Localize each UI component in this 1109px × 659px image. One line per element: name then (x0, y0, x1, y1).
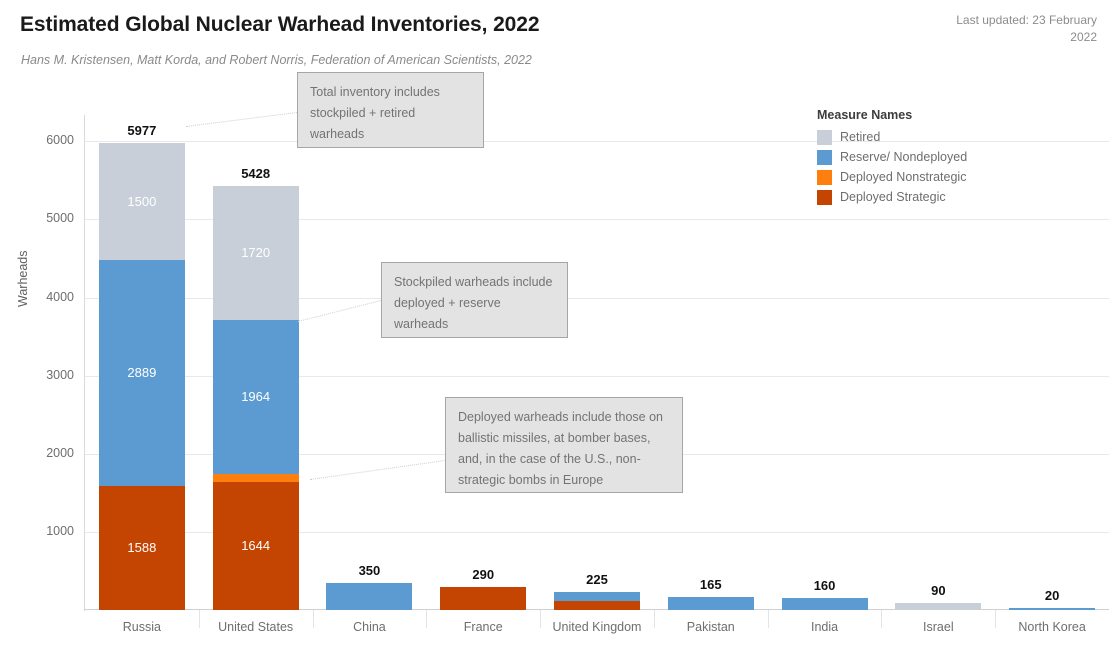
bar-column[interactable]: Israel90 (895, 603, 981, 610)
bar-segment[interactable] (895, 603, 981, 610)
category-separator (540, 610, 541, 628)
category-label: China (312, 620, 426, 634)
bar-segment[interactable] (440, 587, 526, 610)
bar-stack: 1644196417205428 (213, 186, 299, 610)
last-updated-text: Last updated: 23 February 2022 (927, 12, 1097, 46)
legend-title: Measure Names (817, 108, 1017, 122)
category-separator (313, 610, 314, 628)
bar-segment[interactable] (213, 474, 299, 482)
bar-column[interactable]: India160 (782, 598, 868, 611)
category-separator (426, 610, 427, 628)
bar-column[interactable]: China350 (326, 583, 412, 610)
category-separator (995, 610, 996, 628)
category-label: United States (199, 620, 313, 634)
total-value-label: 5977 (99, 123, 185, 138)
chart-title: Estimated Global Nuclear Warhead Invento… (20, 13, 539, 37)
category-label: Russia (85, 620, 199, 634)
legend-item[interactable]: Deployed Nonstrategic (817, 167, 1017, 187)
total-value-label: 90 (895, 583, 981, 598)
bar-segment[interactable] (554, 592, 640, 600)
total-value-label: 225 (554, 572, 640, 587)
bar-segment[interactable] (213, 186, 299, 320)
bar-stack: 290 (440, 587, 526, 610)
category-label: North Korea (995, 620, 1109, 634)
legend: Measure Names RetiredReserve/ Nondeploye… (817, 108, 1017, 207)
bar-column[interactable]: North Korea20 (1009, 608, 1095, 610)
legend-swatch-icon (817, 150, 832, 165)
bar-column[interactable]: France290 (440, 587, 526, 610)
bar-segment[interactable] (1009, 608, 1095, 610)
total-value-label: 160 (782, 578, 868, 593)
category-separator (654, 610, 655, 628)
legend-swatch-icon (817, 170, 832, 185)
bar-segment[interactable] (668, 597, 754, 610)
bar-stack: 20 (1009, 608, 1095, 610)
y-tick-label: 6000 (14, 133, 74, 147)
category-label: United Kingdom (540, 620, 654, 634)
category-label: Pakistan (654, 620, 768, 634)
y-tick-label: 2000 (14, 446, 74, 460)
bar-segment[interactable] (554, 601, 640, 610)
total-value-label: 350 (326, 563, 412, 578)
legend-label: Reserve/ Nondeployed (840, 150, 967, 164)
bar-stack: 160 (782, 598, 868, 611)
annotation-box: Deployed warheads include those on balli… (445, 397, 683, 493)
category-label: France (426, 620, 540, 634)
bar-segment[interactable] (213, 320, 299, 473)
legend-item[interactable]: Retired (817, 127, 1017, 147)
legend-swatch-icon (817, 190, 832, 205)
y-tick-label: 4000 (14, 290, 74, 304)
y-tick-label: 1000 (14, 524, 74, 538)
chart-container: Estimated Global Nuclear Warhead Invento… (0, 0, 1109, 659)
category-label: India (768, 620, 882, 634)
bar-stack: 90 (895, 603, 981, 610)
legend-item[interactable]: Reserve/ Nondeployed (817, 147, 1017, 167)
legend-label: Retired (840, 130, 880, 144)
category-separator (768, 610, 769, 628)
legend-label: Deployed Nonstrategic (840, 170, 966, 184)
legend-swatch-icon (817, 130, 832, 145)
total-value-label: 290 (440, 567, 526, 582)
bar-column[interactable]: Russia1588288915005977 (99, 143, 185, 610)
bar-stack: 165 (668, 597, 754, 610)
bar-segment[interactable] (99, 260, 185, 486)
annotation-box: Stockpiled warheads include deployed + r… (381, 262, 568, 338)
chart-subtitle: Hans M. Kristensen, Matt Korda, and Robe… (21, 53, 532, 67)
annotation-box: Total inventory includes stockpiled + re… (297, 72, 484, 148)
category-separator (881, 610, 882, 628)
bar-column[interactable]: United Kingdom225 (554, 592, 640, 610)
bar-column[interactable]: Pakistan165 (668, 597, 754, 610)
legend-item[interactable]: Deployed Strategic (817, 187, 1017, 207)
y-tick-label: 5000 (14, 211, 74, 225)
bar-segment[interactable] (782, 598, 868, 611)
bar-column[interactable]: United States1644196417205428 (213, 186, 299, 610)
legend-label: Deployed Strategic (840, 190, 946, 204)
y-tick-label: 3000 (14, 368, 74, 382)
bar-segment[interactable] (99, 143, 185, 260)
total-value-label: 5428 (213, 166, 299, 181)
bar-stack: 350 (326, 583, 412, 610)
category-separator (199, 610, 200, 628)
bar-stack: 225 (554, 592, 640, 610)
category-label: Israel (881, 620, 995, 634)
total-value-label: 20 (1009, 588, 1095, 603)
bar-segment[interactable] (326, 583, 412, 610)
bar-stack: 1588288915005977 (99, 143, 185, 610)
bar-segment[interactable] (213, 482, 299, 610)
legend-items: RetiredReserve/ NondeployedDeployed Nons… (817, 127, 1017, 207)
bar-segment[interactable] (99, 486, 185, 610)
total-value-label: 165 (668, 577, 754, 592)
